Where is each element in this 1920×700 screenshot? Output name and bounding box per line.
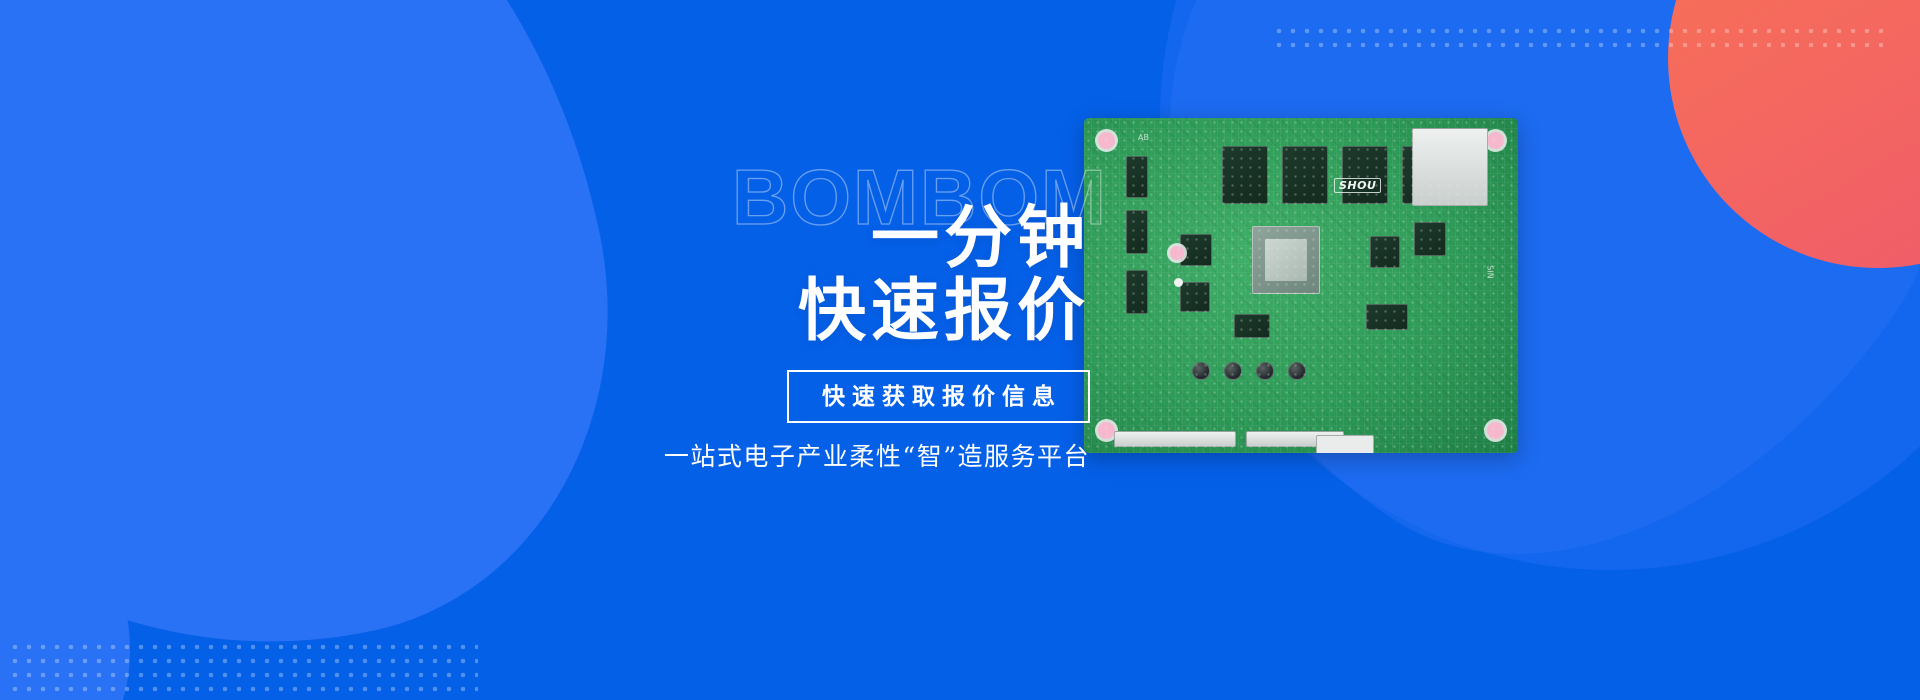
pcb-mounting-hole <box>1098 132 1115 149</box>
pcb-memory-chip <box>1282 146 1328 204</box>
headline-line-1: 一分钟 <box>620 150 1090 275</box>
headline-line-2: 快速报价 <box>620 275 1090 348</box>
pcb-silk-mark: AB <box>1138 134 1149 142</box>
pcb-ic <box>1370 236 1400 268</box>
pcb-edge-connector <box>1246 431 1344 447</box>
pcb-ic <box>1366 304 1408 330</box>
pcb-capacitor <box>1288 362 1306 380</box>
pcb-mounting-hole <box>1098 422 1115 439</box>
pcb-ic <box>1126 210 1148 254</box>
pcb-mounting-hole <box>1487 422 1504 439</box>
pcb-header-white <box>1316 435 1374 453</box>
pcb-processor <box>1252 226 1320 294</box>
pcb-ic <box>1180 234 1212 266</box>
pcb-card-slot <box>1412 128 1488 206</box>
pcb-memory-chip <box>1222 146 1268 204</box>
pcb-brand-silkscreen: SHOU <box>1334 178 1381 193</box>
pcb-capacitor <box>1192 362 1210 380</box>
pcb-substrate: SHOU AB SIN <box>1084 118 1518 453</box>
pcb-mounting-hole <box>1487 132 1504 149</box>
pcb-test-point <box>1174 278 1183 287</box>
banner-copy: BOMBOM 一分钟 快速报价 快速获取报价信息 一站式电子产业柔性“智”造服务… <box>620 150 1090 474</box>
pcb-edge-connector <box>1114 431 1236 447</box>
page-title: 一分钟 快速报价 <box>620 150 1090 348</box>
tagline: 一站式电子产业柔性“智”造服务平台 <box>620 441 1090 474</box>
pcb-silk-mark: SIN <box>1485 265 1493 278</box>
pcb-test-point <box>1170 246 1184 260</box>
pcb-capacitor <box>1224 362 1242 380</box>
pcb-ic <box>1414 222 1446 256</box>
pcb-capacitor <box>1256 362 1274 380</box>
promo-banner: SHOU AB SIN BOMBOM 一分钟 快速报价 快速获取报价信息 一站式… <box>0 0 1920 700</box>
pcb-ic <box>1126 270 1148 314</box>
pcb-memory-chip <box>1402 146 1446 204</box>
pcb-ic <box>1180 282 1210 312</box>
pcb-ic <box>1234 314 1270 338</box>
dot-grid-top-right <box>1272 24 1892 52</box>
pcb-ic <box>1126 156 1148 198</box>
pcb-memory-chip <box>1342 146 1388 204</box>
get-quote-button[interactable]: 快速获取报价信息 <box>787 370 1090 424</box>
dot-grid-bottom-left <box>8 640 478 696</box>
pcb-board-image: SHOU AB SIN <box>1084 118 1518 453</box>
